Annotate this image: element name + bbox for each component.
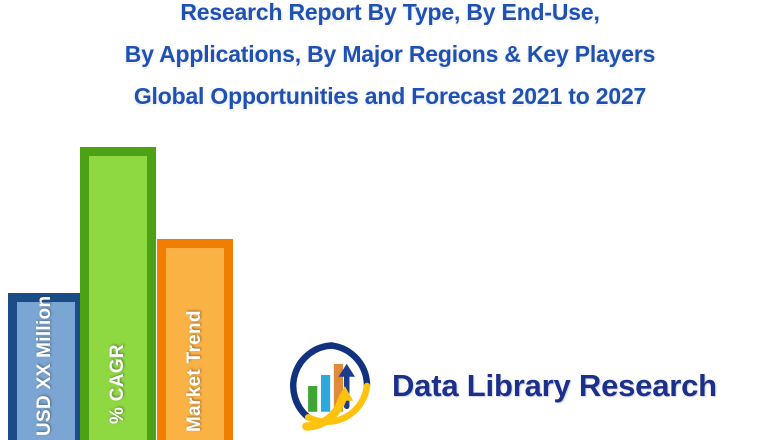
bar-usd-million: USD XX Million [8, 293, 84, 440]
title-line-3: Global Opportunities and Forecast 2021 t… [0, 75, 780, 117]
title-line-2: By Applications, By Major Regions & Key … [0, 33, 780, 75]
title-line-1: Research Report By Type, By End-Use, [0, 0, 780, 33]
bar-chart: USD XX Million % CAGR Market Trend [0, 140, 250, 440]
bar-cagr-fill [89, 156, 147, 440]
logo-wordmark: Data Library Research [392, 368, 717, 404]
bar-cagr: % CAGR [80, 147, 156, 440]
bar-market-trend-fill [166, 248, 224, 440]
report-banner: Research Report By Type, By End-Use, By … [0, 0, 780, 440]
company-logo: Data Library Research [286, 336, 716, 436]
banner-title: Research Report By Type, By End-Use, By … [0, 0, 780, 117]
data-library-research-logo-icon [286, 340, 378, 432]
bar-usd-million-fill [17, 302, 75, 440]
bar-market-trend: Market Trend [157, 239, 233, 440]
